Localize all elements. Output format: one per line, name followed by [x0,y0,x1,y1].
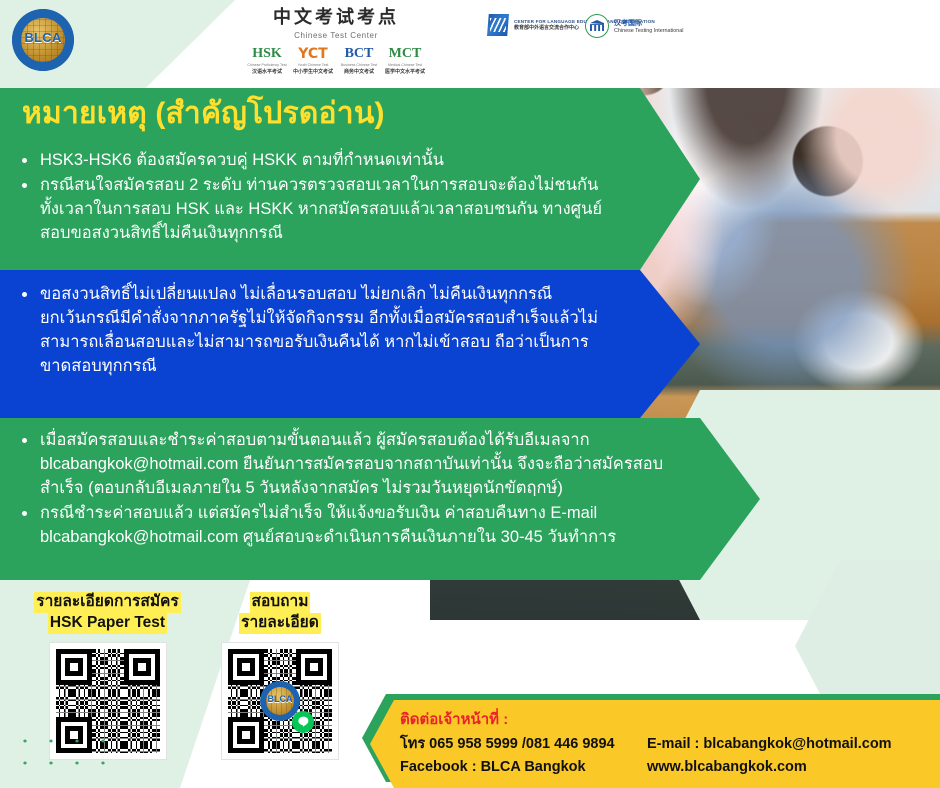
hsk-sub-cn: 汉语水平考试 [246,69,288,75]
bct-sub-en: Business Chinese Test [338,63,380,68]
dot-grid-decoration [8,726,124,782]
center-title-en: Chinese Test Center [246,31,426,41]
yct-abbr: YCT [292,47,334,61]
mct-logo: MCT Medical Chinese Test 医学中文水平考试 [384,47,426,75]
contact-email[interactable]: E-mail : blcabangkok@hotmail.com [647,733,892,756]
mct-sub-en: Medical Chinese Test [384,63,426,68]
notes-section-green-2: เมื่อสมัครสอบและชำระค่าสอบตามขั้นตอนแล้ว… [16,428,686,550]
bct-logo: BCT Business Chinese Test 商务中文考试 [338,47,380,75]
header-bar: BLCA 中文考试考点 Chinese Test Center HSK Chin… [0,0,940,88]
page-title: หมายเหตุ (สำคัญโปรดอ่าน) [22,95,385,133]
cti-org-logo: 汉考国际 Chinese Testing International [585,14,683,38]
qr-caption-line1: สอบถาม [250,592,311,613]
yct-logo: YCT Youth Chinese Test 中小学生中文考试 [292,47,334,75]
yct-sub-en: Youth Chinese Test [292,63,334,68]
center-title-cn: 中文考试考点 [246,8,426,28]
contact-website[interactable]: www.blcabangkok.com [647,756,892,779]
contact-facebook[interactable]: Facebook : BLCA Bangkok [400,756,615,779]
qr-logo-text: BLCA [260,695,300,704]
list-item: ขอสงวนสิทธิ์ไม่เปลี่ยนแปลง ไม่เลื่อนรอบส… [16,282,601,378]
hsk-logo: HSK Chinese Proficiency Test 汉语水平考试 [246,47,288,75]
cti-name-cn: 汉考国际 [614,19,683,28]
qr-caption-line2: HSK Paper Test [48,613,167,634]
exam-logo-row: HSK Chinese Proficiency Test 汉语水平考试 YCT … [246,47,426,75]
qr-code-line[interactable]: BLCA [221,642,339,760]
blca-logo-icon: BLCA [12,9,74,71]
mct-sub-cn: 医学中文水平考试 [384,69,426,75]
clec-mark-icon [487,14,509,36]
notes-section-green-1: HSK3-HSK6 ต้องสมัครควบคู่ HSKK ตามที่กำห… [16,148,616,246]
cti-mark-icon [585,14,609,38]
contact-phone[interactable]: โทร 065 958 5999 /081 446 9894 [400,733,615,756]
qr-block-inquiry[interactable]: สอบถาม รายละเอียด BLCA [205,592,355,760]
poster-root: BLCA 中文考试考点 Chinese Test Center HSK Chin… [0,0,940,788]
notes-section-blue: ขอสงวนสิทธิ์ไม่เปลี่ยนแปลง ไม่เลื่อนรอบส… [16,282,601,379]
cti-name-en: Chinese Testing International [614,28,683,35]
qr-finder-icon [228,717,264,753]
qr-pattern-icon: BLCA [228,649,332,753]
list-item: HSK3-HSK6 ต้องสมัครควบคู่ HSKK ตามที่กำห… [16,148,616,172]
yct-sub-cn: 中小学生中文考试 [292,69,334,75]
blca-logo-text: BLCA [12,31,74,44]
hsk-abbr: HSK [246,47,288,61]
bct-abbr: BCT [338,47,380,61]
chinese-test-center-block: 中文考试考点 Chinese Test Center HSK Chinese P… [246,8,426,75]
contact-bar: ติดต่อเจ้าหน้าที่ : โทร 065 958 5999 /08… [370,700,940,788]
line-badge-icon [292,711,314,733]
bct-sub-cn: 商务中文考试 [338,69,380,75]
contact-left-column: โทร 065 958 5999 /081 446 9894 Facebook … [400,733,615,780]
list-item: เมื่อสมัครสอบและชำระค่าสอบตามขั้นตอนแล้ว… [16,428,686,500]
hsk-sub-en: Chinese Proficiency Test [246,63,288,68]
list-item: กรณีสนใจสมัครสอบ 2 ระดับ ท่านควรตรวจสอบเ… [16,173,616,245]
mct-abbr: MCT [384,47,426,61]
contact-right-column: E-mail : blcabangkok@hotmail.com www.blc… [647,733,892,780]
qr-caption-inquiry: สอบถาม รายละเอียด [205,592,355,634]
contact-title: ติดต่อเจ้าหน้าที่ : [400,711,508,729]
qr-caption-line1: รายละเอียดการสมัคร [34,592,180,613]
qr-caption-registration: รายละเอียดการสมัคร HSK Paper Test [30,592,185,634]
qr-caption-line2: รายละเอียด [239,613,321,634]
list-item: กรณีชำระค่าสอบแล้ว แต่สมัครไม่สำเร็จ ให้… [16,501,686,549]
